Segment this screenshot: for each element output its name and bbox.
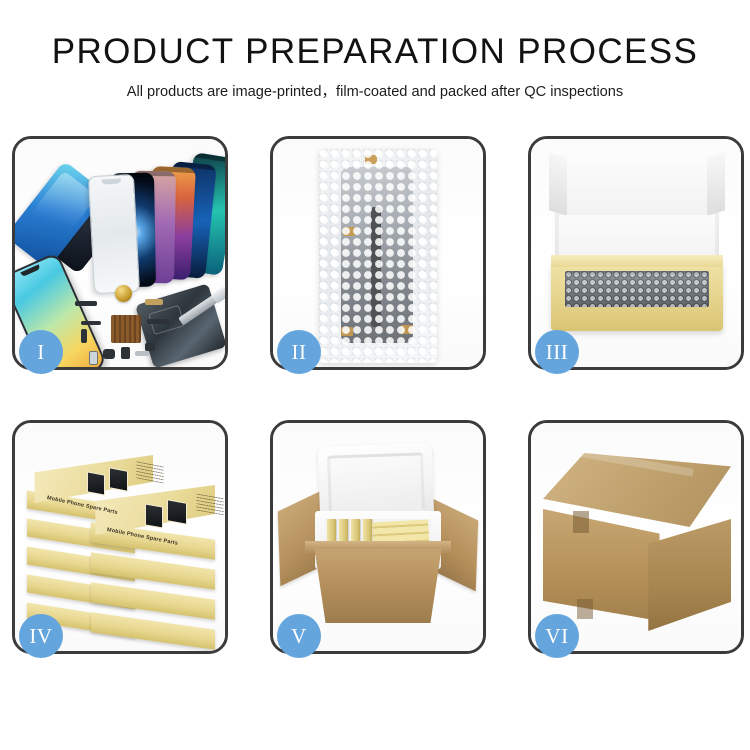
box-bubble-contents [565, 271, 709, 307]
step-badge-3: III [535, 330, 579, 374]
top-box-window-a1 [145, 503, 163, 528]
page-header: PRODUCT PREPARATION PROCESS All products… [0, 0, 750, 101]
process-steps-grid: I II III [12, 136, 742, 654]
step-panel-5[interactable]: V [270, 420, 486, 654]
page-title: PRODUCT PREPARATION PROCESS [0, 34, 750, 71]
flex-cable-2 [81, 329, 87, 343]
stacked-boxes: Mobile Phone Spare Parts Mobile Phone Sp… [21, 443, 219, 637]
step-panel-4[interactable]: Mobile Phone Spare Parts Mobile Phone Sp… [12, 420, 228, 654]
carton-body [309, 549, 447, 623]
phone-screen-fan [107, 153, 225, 293]
tape-middle [343, 227, 355, 236]
carton-with-foam [281, 445, 475, 629]
top-box-window-b2 [109, 467, 128, 492]
stacked-box-r2 [91, 612, 215, 649]
bubble-wrap-bag [319, 149, 437, 363]
logic-board-chip [111, 315, 141, 343]
tape-left [341, 327, 353, 336]
camera-module-icon [115, 285, 132, 302]
flex-cable-3 [147, 319, 169, 324]
carton-tape-lower [577, 599, 593, 619]
step-panel-6[interactable]: VI [528, 420, 744, 654]
tape-right [401, 325, 413, 334]
small-components-group [73, 299, 213, 367]
top-box-window-b1 [87, 471, 105, 495]
step-badge-4: IV [19, 614, 63, 658]
battery-strip [75, 301, 97, 306]
carton-side-face [648, 519, 731, 631]
step-badge-6: VI [535, 614, 579, 658]
speaker-part [145, 299, 163, 305]
flex-cable-1 [81, 321, 101, 325]
tempered-glass-sheet [88, 174, 140, 294]
step-panel-3[interactable]: III [528, 136, 744, 370]
top-box-window-a2 [167, 499, 187, 525]
vibrator-part [103, 349, 115, 359]
sealed-carton [543, 453, 731, 625]
carton-tape-upper [573, 511, 589, 533]
button-part [89, 351, 98, 365]
step-badge-1: I [19, 330, 63, 374]
step-panel-2[interactable]: II [270, 136, 486, 370]
carton-front-face [543, 509, 660, 621]
bracket-part [121, 347, 130, 359]
connector-part [145, 343, 155, 351]
step-badge-2: II [277, 330, 321, 374]
step-panel-1[interactable]: I [12, 136, 228, 370]
wrapped-screen-part [341, 167, 413, 343]
step-badge-5: V [277, 614, 321, 658]
page-subtitle: All products are image-printed，film-coat… [0, 80, 750, 101]
sim-tray-part [135, 351, 149, 356]
tape-top [365, 155, 377, 164]
open-inner-box [549, 157, 725, 333]
